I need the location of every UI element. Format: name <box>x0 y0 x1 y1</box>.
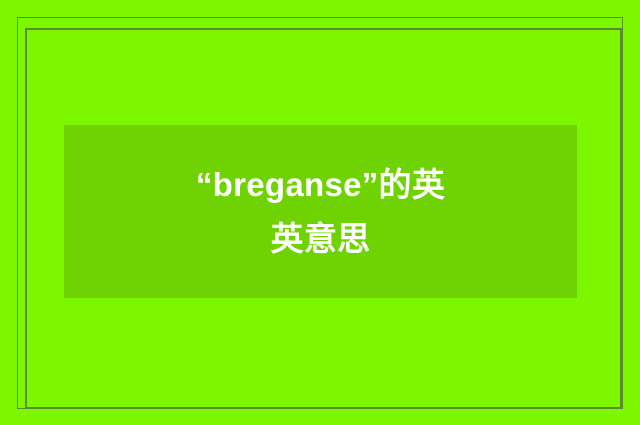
page-title: “breganse”的英英意思 <box>191 158 451 265</box>
image-card: “breganse”的英英意思 <box>0 0 640 425</box>
title-panel: “breganse”的英英意思 <box>64 125 577 298</box>
